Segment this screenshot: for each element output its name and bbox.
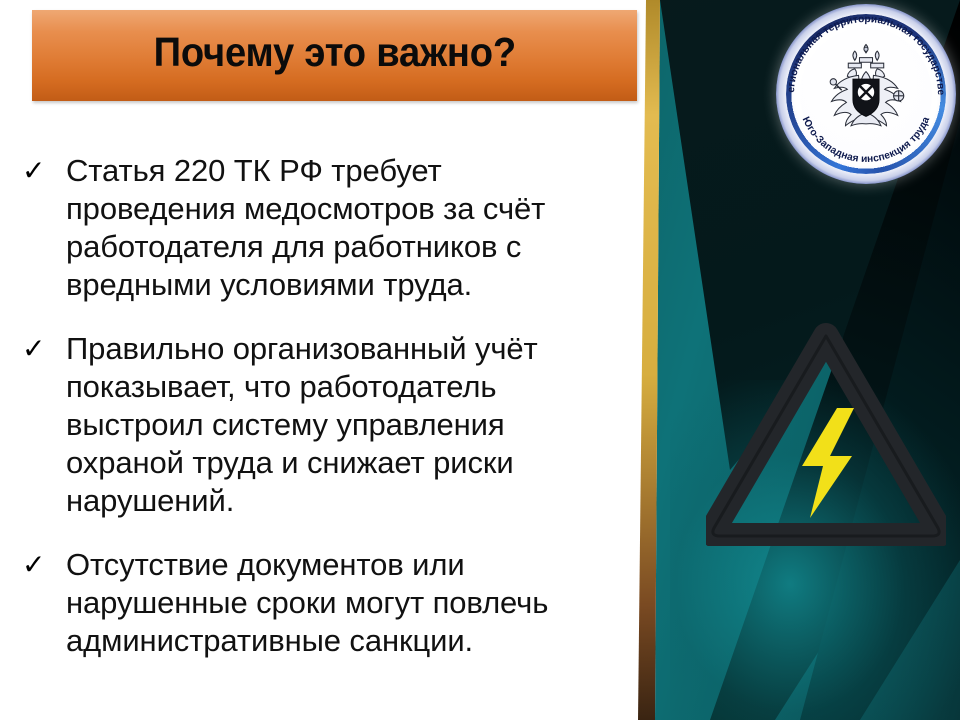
bullet-list: ✓ Статья 220 ТК РФ требует проведения ме…	[18, 152, 618, 686]
title-banner: Почему это важно?	[32, 10, 637, 101]
hazard-triangle-icon	[706, 322, 946, 546]
page-title: Почему это важно?	[153, 29, 515, 82]
list-item: ✓ Статья 220 ТК РФ требует проведения ме…	[18, 152, 618, 304]
double-headed-eagle-icon	[810, 38, 922, 150]
checkmark-icon: ✓	[18, 152, 66, 190]
electrical-hazard-triangle	[706, 322, 946, 546]
list-item-text: Статья 220 ТК РФ требует проведения медо…	[66, 152, 618, 304]
seal-inner-disc	[800, 28, 932, 160]
organization-seal: межрегиональная территориальная государс…	[776, 4, 956, 184]
list-item: ✓ Правильно организованный учёт показыва…	[18, 330, 618, 520]
checkmark-icon: ✓	[18, 330, 66, 368]
list-item: ✓ Отсутствие документов или нарушенные с…	[18, 546, 618, 660]
list-item-text: Отсутствие документов или нарушенные сро…	[66, 546, 618, 660]
list-item-text: Правильно организованный учёт показывает…	[66, 330, 618, 520]
slide-canvas: межрегиональная территориальная государс…	[0, 0, 960, 720]
lightning-bolt-icon	[802, 408, 854, 518]
shield-with-tools-icon	[853, 79, 879, 116]
checkmark-icon: ✓	[18, 546, 66, 584]
